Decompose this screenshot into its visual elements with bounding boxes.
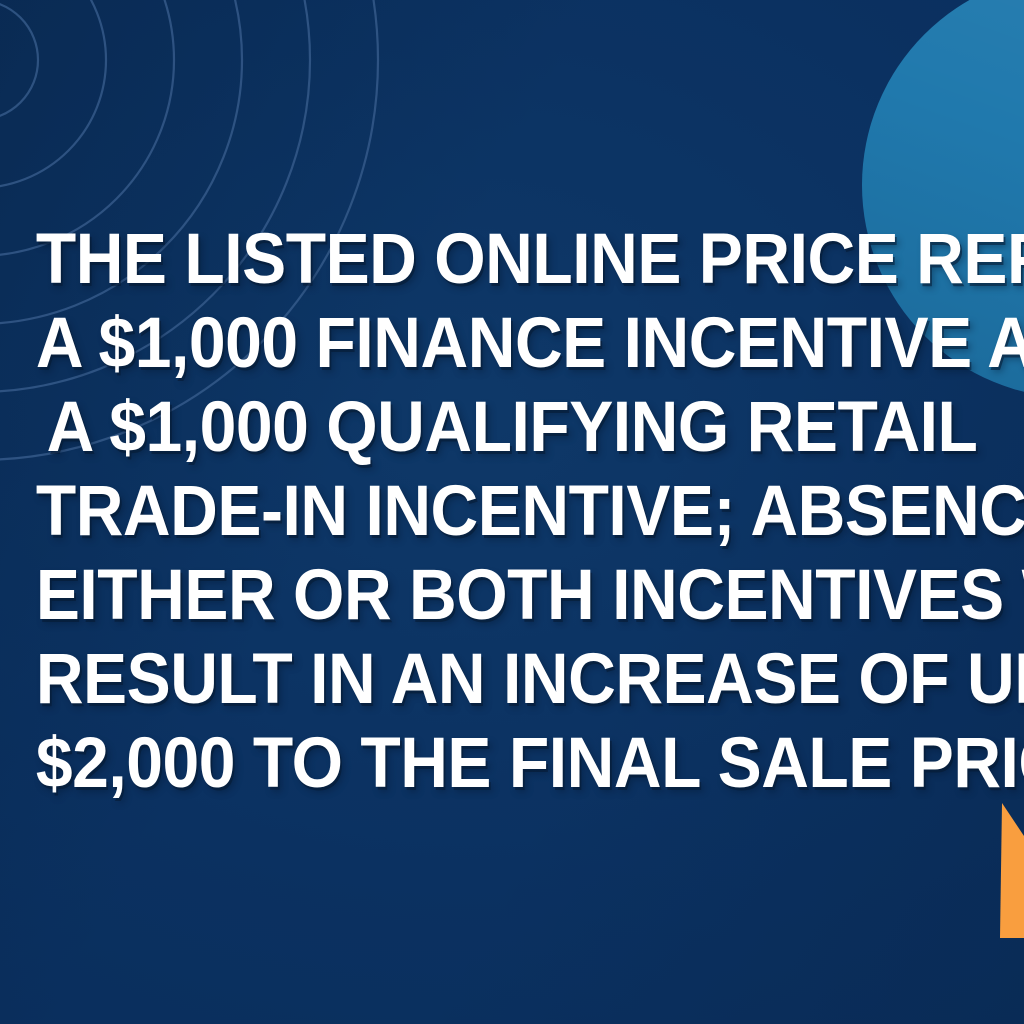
headline-line-4: TRADE-IN INCENTIVE; ABSENCE OF	[36, 470, 988, 554]
disclaimer-graphic: THE LISTED ONLINE PRICE REFLECTS A $1,00…	[0, 0, 1024, 1024]
headline-line-5: EITHER OR BOTH INCENTIVES WILL	[36, 554, 988, 638]
headline-line-1: THE LISTED ONLINE PRICE REFLECTS	[36, 218, 988, 302]
headline-line-2: A $1,000 FINANCE INCENTIVE AND	[36, 302, 988, 386]
headline-line-7: $2,000 TO THE FINAL SALE PRICE.	[36, 722, 988, 806]
headline-line-6: RESULT IN AN INCREASE OF UP TO	[36, 638, 988, 722]
headline-line-3: A $1,000 QUALIFYING RETAIL	[36, 386, 988, 470]
disclaimer-headline: THE LISTED ONLINE PRICE REFLECTS A $1,00…	[36, 218, 988, 806]
